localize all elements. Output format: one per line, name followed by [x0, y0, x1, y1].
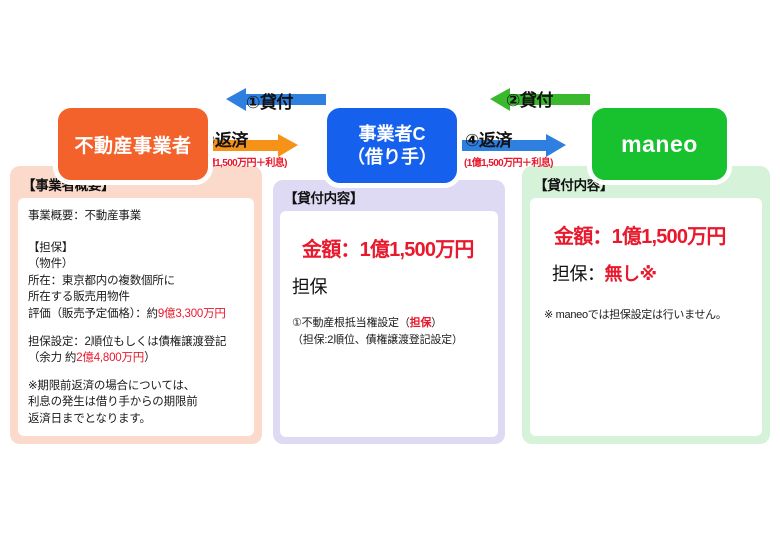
valuation-prefix: 評価（販売予定価格）：約 — [28, 308, 158, 320]
maneo-collateral-note: ※ maneoでは担保設定は行いません。 — [544, 308, 727, 323]
actor-real-estate-operator[interactable]: 不動産事業者 — [53, 103, 213, 185]
panel-mid-title: 【貸付内容】 — [284, 187, 363, 207]
arrow-group-right: ②貸付 ④返済 (1億1,500万円＋利息) — [462, 86, 590, 174]
actor-real-estate-operator-label: 不動産事業者 — [56, 106, 210, 182]
actor-borrower-label: 事業者C （借り手） — [325, 106, 459, 185]
surplus-prefix: （余力 約 — [28, 352, 76, 364]
collateral-setting-prefix: 担保設定：2順位もしくは債権譲渡登記 — [28, 336, 226, 348]
collateral-setting-line: 担保設定：2順位もしくは債権譲渡登記（余力 約2億4,800万円） — [28, 334, 226, 367]
repay-label-right: ④返済 — [465, 126, 512, 151]
collateral-detail-c: ） — [431, 317, 442, 329]
panel-left-content: 事業概要：不動産事業 【担保】 （物件） 所在：東京都内の複数個所に 所在する販… — [18, 198, 254, 436]
prepayment-note: ※期限前返済の場合については、 利息の発生は借り手からの期限前 返済日までとなり… — [28, 378, 198, 427]
surplus-suffix: ） — [144, 352, 155, 364]
panel-right-content: 金額：1億1,500万円 担保：無し※ ※ maneoでは担保設定は行いません。 — [530, 198, 762, 436]
collateral-detail-a: ①不動産根抵当権設定（ — [292, 317, 410, 329]
loan-amount-maneo: 金額：1億1,500万円 — [554, 220, 726, 249]
collateral-status-maneo: 担保：無し※ — [552, 260, 657, 286]
collateral-detail-line2: （担保:2順位、債権譲渡登記設定） — [292, 334, 463, 346]
actor-maneo[interactable]: maneo — [587, 103, 732, 185]
valuation-value: 9億3,300万円 — [158, 308, 226, 320]
actor-borrower-line2: （借り手） — [347, 146, 437, 169]
actor-borrower-company-c[interactable]: 事業者C （借り手） — [322, 103, 462, 188]
valuation-line: 評価（販売予定価格）：約9億3,300万円 — [28, 306, 226, 322]
panel-mid-content: 金額：1億1,500万円 担保 ①不動産根抵当権設定（担保）（担保:2順位、債権… — [280, 211, 498, 437]
collateral-detail-highlight: 担保 — [410, 317, 432, 329]
loan-amount-borrower: 金額：1億1,500万円 — [302, 233, 474, 262]
actor-maneo-label: maneo — [590, 106, 729, 182]
loan-label-left: ①貸付 — [246, 88, 293, 113]
panel-loan-details-borrower: 【貸付内容】 金額：1億1,500万円 担保 ①不動産根抵当権設定（担保）（担保… — [273, 180, 505, 444]
surplus-value: 2億4,800万円 — [76, 352, 144, 364]
diagram-canvas: 【事業者概要】 事業概要：不動産事業 【担保】 （物件） 所在：東京都内の複数個… — [0, 0, 780, 550]
collateral-detail-borrower: ①不動産根抵当権設定（担保）（担保:2順位、債権譲渡登記設定） — [292, 315, 463, 348]
loan-label-right: ②貸付 — [506, 86, 553, 111]
panel-business-overview: 【事業者概要】 事業概要：不動産事業 【担保】 （物件） 所在：東京都内の複数個… — [10, 166, 262, 444]
collateral-value-maneo: 無し※ — [605, 264, 657, 284]
collateral-heading-borrower: 担保 — [292, 273, 327, 299]
arrow-group-left: ①貸付 ③返済 (1億1,500万円＋利息) — [198, 88, 326, 174]
business-summary-line: 事業概要：不動産事業 — [28, 208, 141, 224]
collateral-property-block: 【担保】 （物件） 所在：東京都内の複数個所に 所在する販売用物件 — [28, 240, 175, 305]
actor-borrower-line1: 事業者C — [347, 123, 437, 146]
collateral-prefix-maneo: 担保： — [552, 264, 605, 284]
repay-amount-note-right: (1億1,500万円＋利息) — [464, 154, 553, 169]
panel-loan-details-maneo: 【貸付内容】 金額：1億1,500万円 担保：無し※ ※ maneoでは担保設定… — [522, 166, 770, 444]
